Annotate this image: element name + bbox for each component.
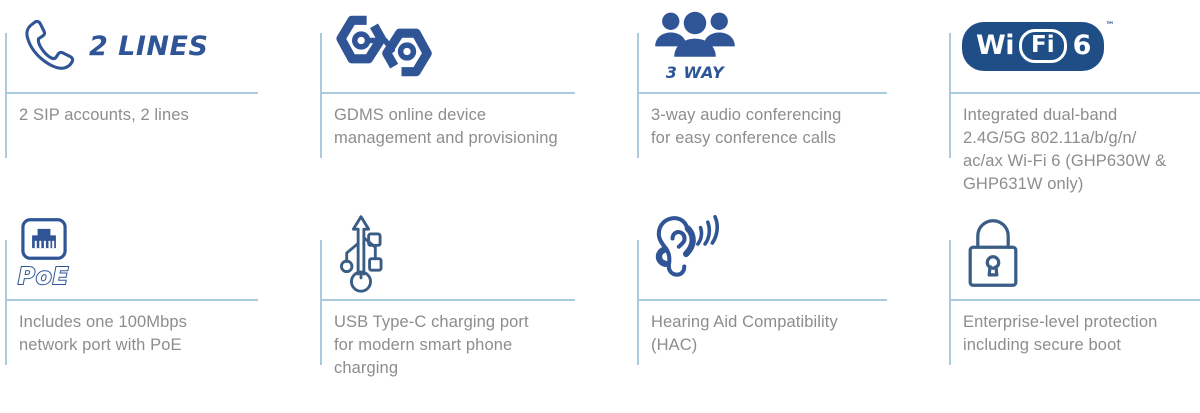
- feature-caption: Integrated dual-band 2.4G/5G 802.11a/b/g…: [963, 104, 1200, 196]
- divider-horizontal: [320, 92, 575, 94]
- divider-horizontal: [5, 299, 258, 301]
- icon-area: Wi Fi 6 ™: [962, 0, 1200, 92]
- feature-row-2: PoE Includes one 100Mbps network port wi…: [0, 207, 1200, 413]
- divider-vertical: [320, 33, 322, 158]
- feature-grid: 2 LINES 2 SIP accounts, 2 lines: [0, 0, 1200, 413]
- three-way-conference-icon: [650, 10, 740, 62]
- divider-horizontal: [637, 299, 887, 301]
- feature-cell-gdms: GDMS online device management and provis…: [315, 0, 632, 206]
- feature-cell-usb-c: USB Type-C charging port for modern smar…: [315, 207, 632, 413]
- wifi-six-text: 6: [1072, 32, 1092, 59]
- feature-cell-two-lines: 2 LINES 2 SIP accounts, 2 lines: [0, 0, 315, 206]
- divider-vertical: [637, 33, 639, 158]
- feature-caption: GDMS online device management and provis…: [334, 104, 574, 150]
- divider-horizontal: [949, 299, 1200, 301]
- feature-cell-poe: PoE Includes one 100Mbps network port wi…: [0, 207, 315, 413]
- feature-caption: Enterprise-level protection including se…: [963, 311, 1200, 357]
- feature-cell-security: Enterprise-level protection including se…: [944, 207, 1200, 413]
- wifi-6-badge-icon: Wi Fi 6 ™: [962, 22, 1104, 71]
- icon-area: 3 WAY: [650, 0, 910, 92]
- icon-area: [333, 207, 593, 299]
- feature-caption: Includes one 100Mbps network port with P…: [19, 311, 259, 357]
- feature-cell-wifi6: Wi Fi 6 ™ Integrated dual-band 2.4G/5G 8…: [944, 0, 1200, 206]
- divider-vertical: [949, 33, 951, 158]
- feature-caption: 2 SIP accounts, 2 lines: [19, 104, 259, 127]
- wifi-fi-text: Fi: [1019, 29, 1067, 63]
- trademark-icon: ™: [1105, 21, 1114, 31]
- feature-caption: Hearing Aid Compatibility (HAC): [651, 311, 891, 357]
- icon-label: PoE: [18, 264, 69, 290]
- divider-vertical: [5, 240, 7, 365]
- icon-label: 2 LINES: [89, 31, 208, 62]
- hearing-aid-ear-icon: [650, 215, 724, 291]
- icon-area: 2 LINES: [18, 0, 278, 92]
- two-lines-phone-icon: [18, 15, 80, 77]
- gdms-cloud-hex-icon: [333, 13, 437, 79]
- icon-area: [650, 207, 910, 299]
- divider-vertical: [5, 33, 7, 158]
- divider-horizontal: [320, 299, 575, 301]
- feature-cell-three-way: 3 WAY 3-way audio conferencing for easy …: [632, 0, 944, 206]
- feature-caption: 3-way audio conferencing for easy confer…: [651, 104, 891, 150]
- divider-vertical: [320, 240, 322, 365]
- divider-horizontal: [637, 92, 887, 94]
- feature-caption: USB Type-C charging port for modern smar…: [334, 311, 574, 380]
- divider-vertical: [949, 240, 951, 365]
- divider-horizontal: [949, 92, 1200, 94]
- divider-horizontal: [5, 92, 258, 94]
- icon-area: PoE: [18, 207, 278, 299]
- wifi-wi-text: Wi: [976, 32, 1014, 59]
- icon-area: [962, 207, 1200, 299]
- usb-type-c-icon: [333, 211, 389, 295]
- feature-cell-hearing-aid: Hearing Aid Compatibility (HAC): [632, 207, 944, 413]
- feature-row-1: 2 LINES 2 SIP accounts, 2 lines: [0, 0, 1200, 206]
- divider-vertical: [637, 240, 639, 365]
- icon-label: 3 WAY: [666, 63, 724, 82]
- poe-ethernet-port-icon: [20, 217, 68, 261]
- icon-area: [333, 0, 593, 92]
- padlock-security-icon: [962, 215, 1024, 291]
